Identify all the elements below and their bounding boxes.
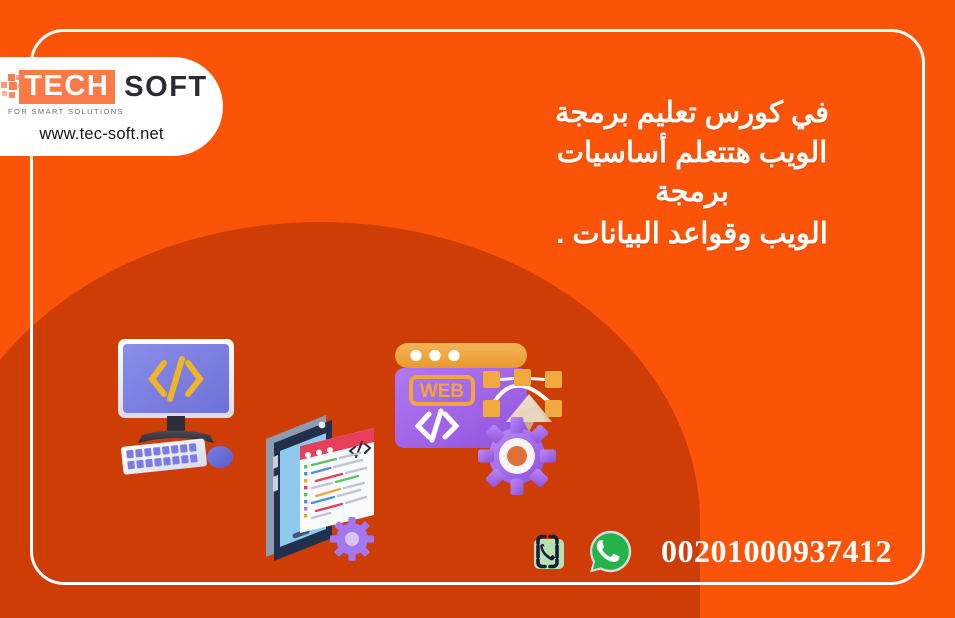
logo-wordmark: TECH SOFT <box>1 70 207 104</box>
web-browser-window-illustration: WEB <box>387 338 572 500</box>
headline-line-1: في كورس تعليم برمجة <box>477 94 907 134</box>
phone-handset-icon[interactable] <box>525 530 569 574</box>
headline-line-4: الويب وقواعد البيانات . <box>477 215 907 255</box>
contact-row: 00201000937412 <box>525 529 892 574</box>
desktop-monitor-code-illustration <box>104 331 256 481</box>
phone-number-text: 00201000937412 <box>661 533 892 570</box>
headline-line-2: الويب هتتعلم أساسيات <box>477 134 907 174</box>
poster-canvas: WEB <box>0 0 955 618</box>
whatsapp-icon[interactable] <box>588 529 633 574</box>
headline-text: في كورس تعليم برمجة الويب هتتعلم أساسيات… <box>477 94 907 255</box>
mobile-code-editor-illustration <box>252 405 388 580</box>
logo-website-text[interactable]: www.tec-soft.net <box>39 125 163 144</box>
logo-tagline: FOR SMART SOLUTIONS <box>0 107 124 116</box>
logo-soft-text: SOFT <box>124 72 207 102</box>
pixel-squares-icon <box>1 74 21 100</box>
logo-badge: TECH SOFT FOR SMART SOLUTIONS www.tec-so… <box>0 57 223 156</box>
web-badge-label: WEB <box>420 381 464 402</box>
headline-line-3: برمجة <box>477 173 907 213</box>
logo-tech-text: TECH <box>19 70 115 104</box>
